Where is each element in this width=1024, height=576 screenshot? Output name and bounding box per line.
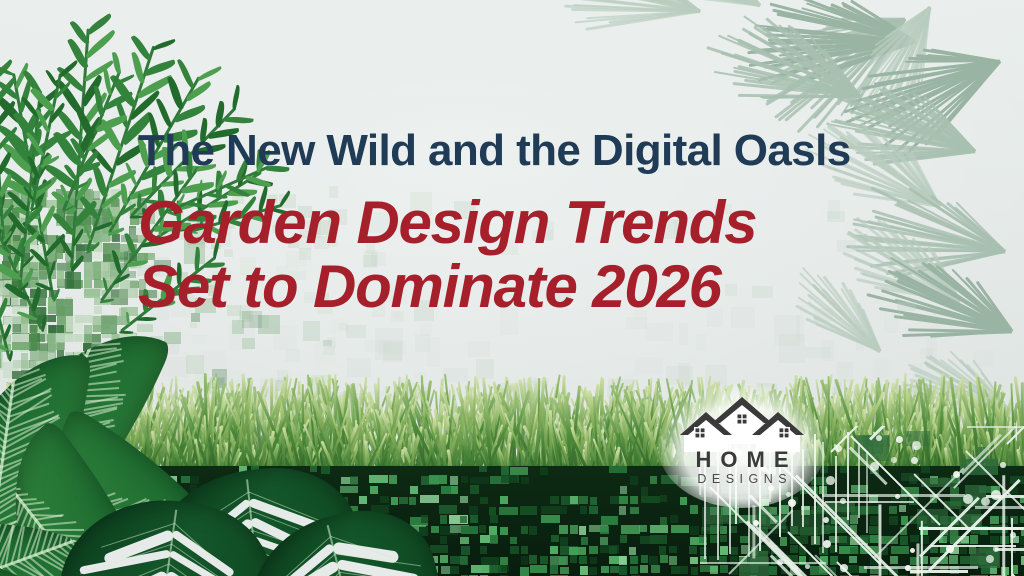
title-line-2: Set to Dominate 2026 (138, 255, 938, 320)
title-line-1: Garden Design Trends (138, 191, 938, 256)
eyebrow-text: The New Wild and the Digital Oasls (138, 128, 938, 175)
logo-wordmark: HOME (672, 447, 812, 473)
headline-block: The New Wild and the Digital Oasls Garde… (138, 128, 938, 320)
logo-sub-wordmark: DESIGNS (672, 472, 812, 486)
promo-banner: The New Wild and the Digital Oasls Garde… (0, 0, 1024, 576)
three-houses-icon (672, 392, 812, 454)
page-title: Garden Design Trends Set to Dominate 202… (138, 191, 938, 321)
home-designs-logo[interactable]: HOME DESIGNS (672, 392, 812, 500)
